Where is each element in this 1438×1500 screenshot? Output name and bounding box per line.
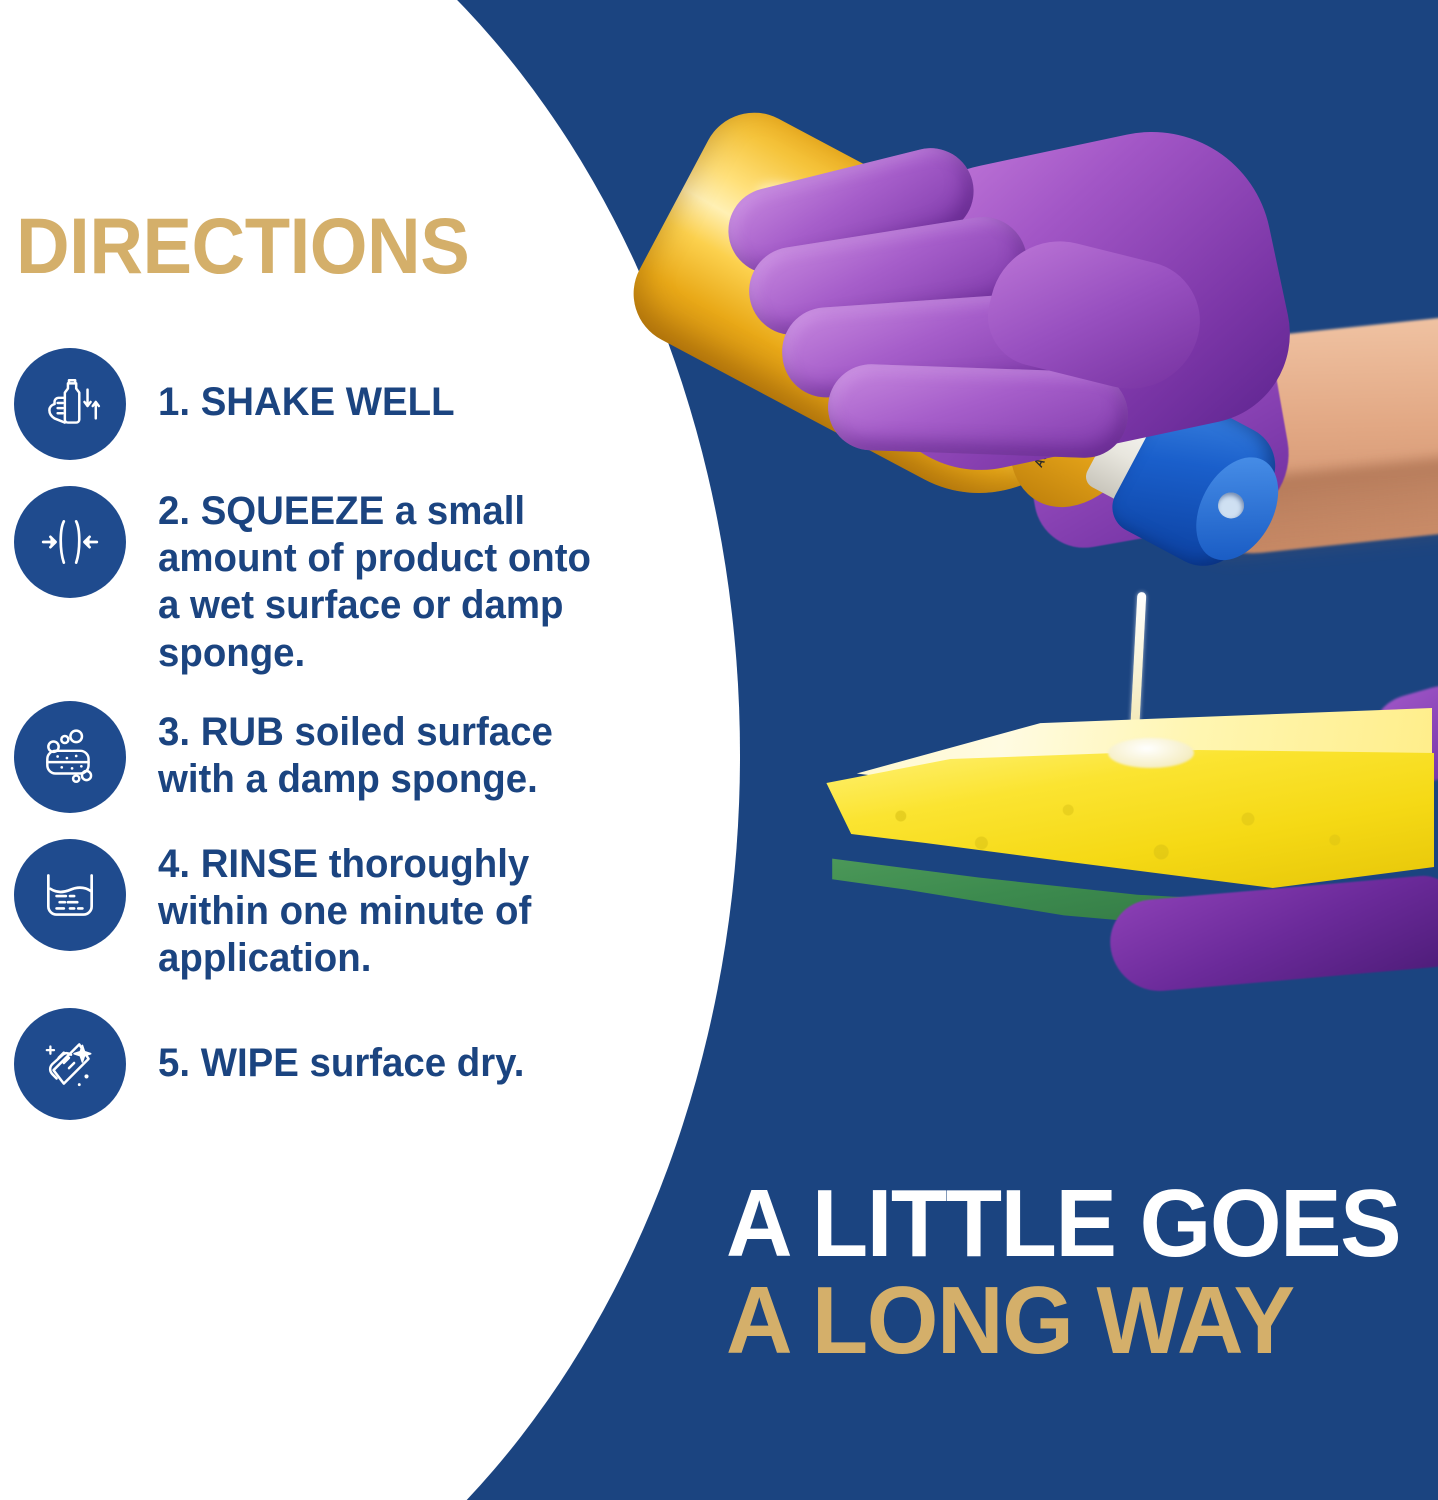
sponge [810,690,1438,960]
headline-line-2: A LONG WAY [726,1275,1398,1366]
water-basin-icon [14,839,126,951]
product-puddle-on-sponge [1108,738,1194,768]
directions-column: DIRECTIONS 1. SHAKE WELL [0,0,640,1500]
squeeze-compression-icon [14,486,126,598]
page-title: DIRECTIONS [16,206,469,285]
direction-step-text: 3. RUB soiled surface with a damp sponge… [158,709,621,803]
direction-step: 3. RUB soiled surface with a damp sponge… [0,701,640,813]
direction-step: 2. SQUEEZE a small amount of product ont… [0,486,640,677]
direction-step: 5. WIPE surface dry. [0,1008,640,1120]
direction-step-text: 2. SQUEEZE a small amount of product ont… [158,488,621,677]
directions-step-list: 1. SHAKE WELL 2. SQUEEZE a small amount … [0,348,640,1134]
direction-step-text: 5. WIPE surface dry. [158,1040,621,1087]
hand-shaking-bottle-icon [14,348,126,460]
headline: A LITTLE GOES A LONG WAY [726,1178,1426,1366]
direction-step-text: 4. RINSE thoroughly within one minute of… [158,841,621,983]
headline-line-1: A LITTLE GOES [726,1178,1398,1269]
hand-wiping-sparkle-icon [14,1008,126,1120]
direction-step: 4. RINSE thoroughly within one minute of… [0,839,640,983]
infographic-canvas: SOFT CLEANSER BAR KEEPERS FRIEND SINCE 1… [0,0,1438,1500]
product-photo: SOFT CLEANSER BAR KEEPERS FRIEND SINCE 1… [560,0,1438,1180]
direction-step: 1. SHAKE WELL [0,348,640,460]
direction-step-text: 1. SHAKE WELL [158,379,621,426]
sponge-bubbles-icon [14,701,126,813]
